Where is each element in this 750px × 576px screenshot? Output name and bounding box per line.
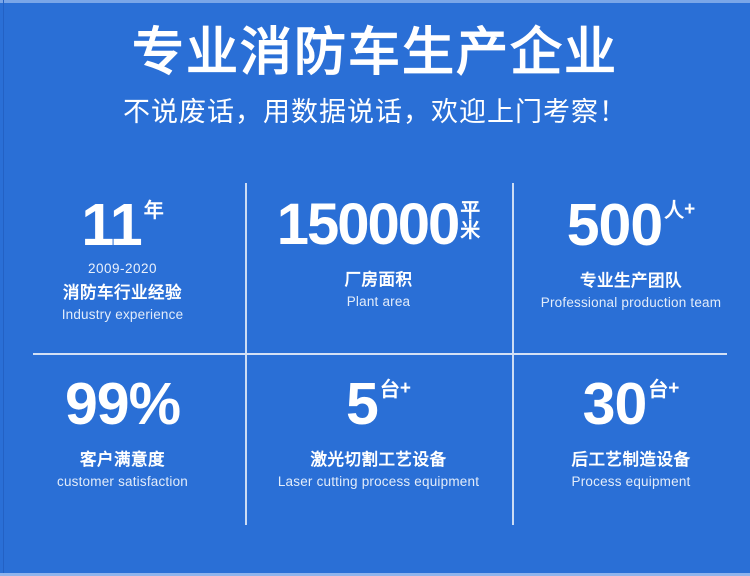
stat-cell-industry-experience: 11 年 2009-2020 消防车行业经验 Industry experien… xyxy=(0,183,245,354)
stat-cell-plant-area: 150000 平 米 厂房面积 Plant area xyxy=(245,183,512,354)
stat-label-cn: 后工艺制造设备 xyxy=(572,450,691,471)
stat-number-row: 11 年 xyxy=(81,197,163,253)
stat-unit-plus: + xyxy=(668,379,679,398)
stat-number: 5 xyxy=(346,376,378,432)
stat-label-en: Laser cutting process equipment xyxy=(278,474,479,490)
stat-unit: 台 xyxy=(648,380,668,401)
page-title: 专业消防车生产企业 xyxy=(0,24,750,82)
stat-label-en: Plant area xyxy=(347,294,411,310)
stat-unit: 台 xyxy=(380,380,400,401)
stat-number: 30 xyxy=(583,376,647,432)
stat-number: 150000 xyxy=(277,197,459,252)
stat-number: 99% xyxy=(65,376,180,432)
stat-number: 500 xyxy=(567,197,662,253)
stat-cell-production-team: 500 人 + 专业生产团队 Professional production t… xyxy=(512,183,750,354)
stat-label-en: customer satisfaction xyxy=(57,474,188,490)
stat-unit-line-2: 米 xyxy=(460,221,480,241)
banner-header: 专业消防车生产企业 不说废话，用数据说话，欢迎上门考察！ xyxy=(0,24,750,129)
stat-label-cn: 激光切割工艺设备 xyxy=(311,450,447,471)
stat-number-row: 5 台 + xyxy=(346,376,411,432)
stat-cell-customer-satisfaction: 99% 客户满意度 customer satisfaction xyxy=(0,354,245,525)
stat-number-row: 150000 平 米 xyxy=(277,197,481,252)
stat-number-row: 30 台 + xyxy=(583,376,680,432)
stat-unit-plus: + xyxy=(400,379,411,398)
stat-number-row: 500 人 + xyxy=(567,197,696,253)
stat-unit: 人 xyxy=(664,201,684,222)
stat-label-cn: 消防车行业经验 xyxy=(63,283,182,304)
stat-unit: 年 xyxy=(144,201,164,222)
stat-unit-stack: 平 米 xyxy=(460,201,480,242)
stat-cell-process-equipment: 30 台 + 后工艺制造设备 Process equipment xyxy=(512,354,750,525)
stat-number-row: 99% xyxy=(65,376,180,432)
stat-label-en: Process equipment xyxy=(572,474,691,490)
stat-unit: 平 米 xyxy=(460,201,480,242)
promo-banner: 专业消防车生产企业 不说废话，用数据说话，欢迎上门考察！ 11 年 2009-2… xyxy=(0,0,750,576)
stat-label-en: Professional production team xyxy=(541,295,721,311)
stat-label-cn: 专业生产团队 xyxy=(580,271,682,292)
stat-number: 11 xyxy=(81,197,141,253)
top-edge-strip xyxy=(0,0,750,3)
stat-range: 2009-2020 xyxy=(88,262,157,277)
stat-label-cn: 厂房面积 xyxy=(345,270,413,291)
stat-label-cn: 客户满意度 xyxy=(80,450,165,471)
stat-label-en: Industry experience xyxy=(62,307,184,323)
stat-cell-laser-cutting: 5 台 + 激光切割工艺设备 Laser cutting process equ… xyxy=(245,354,512,525)
stat-unit-line-1: 平 xyxy=(460,201,480,221)
stat-unit-plus: + xyxy=(684,200,695,219)
page-subtitle: 不说废话，用数据说话，欢迎上门考察！ xyxy=(0,96,750,128)
stats-grid: 11 年 2009-2020 消防车行业经验 Industry experien… xyxy=(0,183,750,525)
